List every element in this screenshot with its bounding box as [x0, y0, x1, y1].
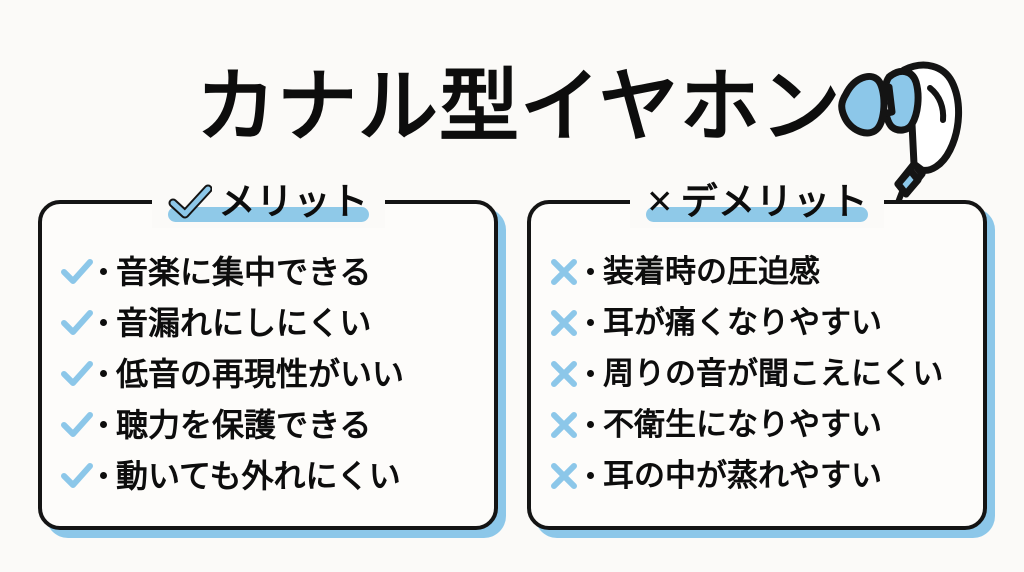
demerit-header-highlight [646, 207, 868, 222]
check-icon [60, 459, 94, 493]
x-icon: ✕ [646, 180, 674, 224]
x-icon [547, 255, 581, 289]
x-icon [547, 306, 581, 340]
check-icon [60, 306, 94, 340]
bullet-dot [100, 268, 107, 275]
merit-item-label: 低音の再現性がいい [116, 355, 404, 393]
list-item: 音漏れにしにくい [60, 297, 480, 348]
demerit-item-label: 不衛生になりやすい [603, 406, 882, 444]
x-icon [547, 459, 581, 493]
infographic-canvas: カナル型イヤホン [0, 0, 1024, 572]
merit-item-label: 音漏れにしにくい [116, 304, 371, 342]
merit-card-header: メリット [42, 174, 494, 230]
x-icon [547, 408, 581, 442]
demerit-item-label: 耳が痛くなりやすい [603, 304, 882, 342]
demerit-card: ✕ デメリット 装着時の圧迫感 [527, 200, 987, 530]
bullet-dot [587, 472, 594, 479]
bullet-dot [587, 268, 594, 275]
bullet-dot [587, 370, 594, 377]
check-icon [60, 357, 94, 391]
list-item: 音楽に集中できる [60, 246, 480, 297]
x-icon [547, 357, 581, 391]
merit-item-label: 音楽に集中できる [116, 253, 371, 291]
demerit-item-label: 装着時の圧迫感 [603, 253, 820, 291]
merit-item-label: 聴力を保護できる [116, 406, 371, 444]
check-icon [60, 408, 94, 442]
bullet-dot [100, 472, 107, 479]
check-icon [60, 255, 94, 289]
check-icon [168, 184, 212, 220]
page-title: カナル型イヤホン [196, 64, 836, 150]
demerit-item-label: 耳の中が蒸れやすい [603, 457, 882, 495]
bullet-dot [100, 319, 107, 326]
demerit-list: 装着時の圧迫感 耳が痛くなりやすい 周りの音が聞こえにくい [547, 246, 969, 501]
demerit-item-label: 周りの音が聞こえにくい [603, 355, 943, 393]
list-item: 不衛生になりやすい [547, 399, 969, 450]
canal-earphone-icon [826, 52, 986, 214]
bullet-dot [587, 421, 594, 428]
merit-item-label: 動いても外れにくい [116, 457, 401, 495]
merit-header-label: メリット [219, 180, 369, 224]
list-item: 聴力を保護できる [60, 399, 480, 450]
list-item: 耳の中が蒸れやすい [547, 450, 969, 501]
bullet-dot [100, 370, 107, 377]
title-row: カナル型イヤホン [0, 30, 1024, 170]
merit-card: メリット 音楽に集中できる 音漏れにしにく [38, 200, 498, 530]
list-item: 低音の再現性がいい [60, 348, 480, 399]
list-item: 動いても外れにくい [60, 450, 480, 501]
merit-header-highlight [168, 207, 369, 222]
bullet-dot [100, 421, 107, 428]
list-item: 耳が痛くなりやすい [547, 297, 969, 348]
list-item: 周りの音が聞こえにくい [547, 348, 969, 399]
bullet-dot [587, 319, 594, 326]
list-item: 装着時の圧迫感 [547, 246, 969, 297]
merit-list: 音楽に集中できる 音漏れにしにくい 低音の再現性がいい [60, 246, 480, 501]
